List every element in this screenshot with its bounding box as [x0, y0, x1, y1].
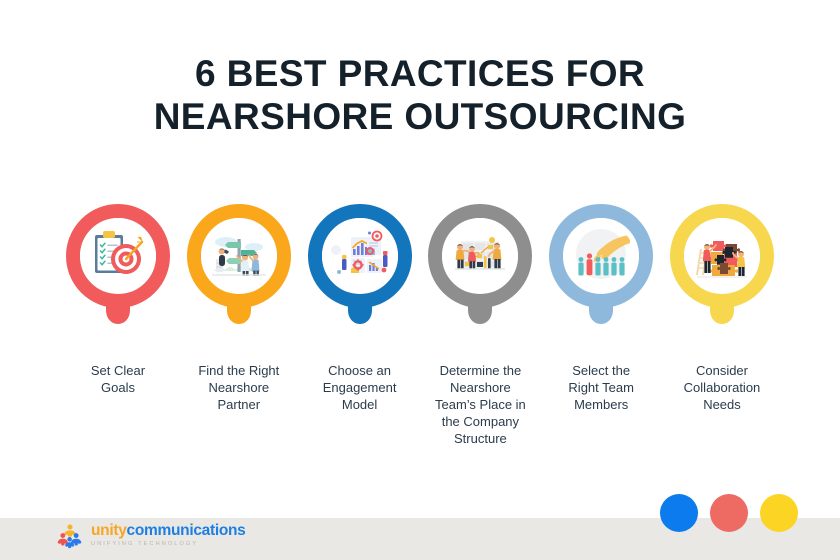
step-item-3[interactable]: Choose an Engagement Model [300, 204, 420, 413]
pin-shape-2 [187, 204, 291, 334]
decorative-dots [660, 494, 798, 532]
step-item-6[interactable]: Consider Collaboration Needs [662, 204, 782, 413]
step-item-4[interactable]: Determine the Nearshore Team’s Place in … [420, 204, 540, 447]
puzzle-collaboration-icon [689, 223, 755, 289]
pin-shape-5 [549, 204, 653, 334]
dot-coral [710, 494, 748, 532]
org-chart-board-icon [447, 223, 513, 289]
dot-blue [660, 494, 698, 532]
logo-words: unitycommunications [91, 523, 246, 539]
title-line-1: 6 Best Practices For [0, 52, 840, 95]
unity-people-logo-icon [56, 521, 84, 549]
pin-shape-3 [308, 204, 412, 334]
analytics-dashboard-icon [327, 223, 393, 289]
step-caption-6: Consider Collaboration Needs [660, 362, 784, 413]
logo-wordmark: unitycommunications Unifying Technology [91, 523, 246, 547]
logo-word-unity: unity [91, 522, 127, 539]
logo-word-communications: communications [127, 522, 246, 539]
page-title: 6 Best Practices For Nearshore Outsourci… [0, 52, 840, 138]
brand-logo[interactable]: unitycommunications Unifying Technology [56, 521, 246, 549]
step-item-5[interactable]: Select the Right Team Members [541, 204, 661, 413]
steps-row: Set Clear Goals [58, 204, 782, 447]
signpost-team-icon [206, 223, 272, 289]
pin-shape-6 [670, 204, 774, 334]
clipboard-target-icon [85, 223, 151, 289]
step-caption-4: Determine the Nearshore Team’s Place in … [418, 362, 542, 447]
step-item-1[interactable]: Set Clear Goals [58, 204, 178, 396]
step-caption-3: Choose an Engagement Model [298, 362, 422, 413]
logo-tagline: Unifying Technology [91, 541, 246, 547]
dot-yellow [760, 494, 798, 532]
step-item-2[interactable]: Find the Right Nearshore Partner [179, 204, 299, 413]
step-caption-1: Set Clear Goals [56, 362, 180, 396]
pin-shape-1 [66, 204, 170, 334]
infographic-canvas: 6 Best Practices For Nearshore Outsourci… [0, 0, 840, 560]
hand-picking-person-icon [568, 223, 634, 289]
step-caption-2: Find the Right Nearshore Partner [177, 362, 301, 413]
pin-shape-4 [428, 204, 532, 334]
title-line-2: Nearshore Outsourcing [0, 95, 840, 138]
step-caption-5: Select the Right Team Members [539, 362, 663, 413]
